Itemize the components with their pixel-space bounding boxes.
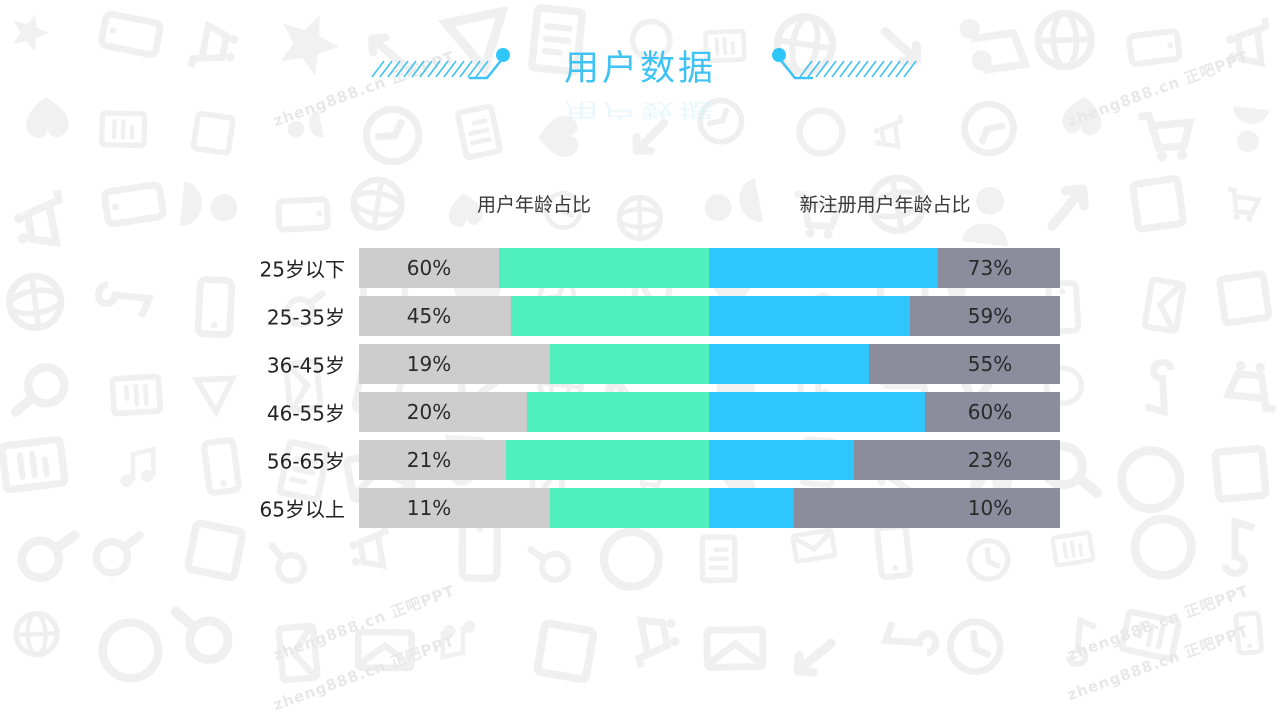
bar-value-left: 45% — [359, 304, 499, 328]
chart-column-headers: 用户年龄占比 新注册用户年龄占比 — [359, 190, 1060, 220]
bar-segment-user-age — [550, 488, 709, 528]
bar-segment-new-user-age — [709, 392, 925, 432]
diverging-bar: 19%55% — [359, 344, 1060, 384]
bar-half-right-track: 23% — [709, 440, 1060, 480]
row-category-label: 65岁以上 — [155, 494, 345, 523]
bar-value-left: 20% — [359, 400, 499, 424]
bar-half-left-track: 19% — [359, 344, 709, 384]
bar-value-right: 60% — [920, 400, 1060, 424]
bar-half-right-track: 59% — [709, 296, 1060, 336]
diverging-bar: 20%60% — [359, 392, 1060, 432]
row-category-label: 25-35岁 — [155, 302, 345, 331]
bar-value-right: 10% — [920, 496, 1060, 520]
row-category-label: 56-65岁 — [155, 446, 345, 475]
chart-row: 25岁以下60%73% — [0, 248, 1280, 288]
bar-value-right: 55% — [920, 352, 1060, 376]
chart-row: 56-65岁21%23% — [0, 440, 1280, 480]
row-category-label: 25岁以下 — [155, 254, 345, 283]
bar-value-left: 19% — [359, 352, 499, 376]
bar-half-right-track: 73% — [709, 248, 1060, 288]
bar-segment-new-user-age — [709, 488, 794, 528]
bar-value-right: 59% — [920, 304, 1060, 328]
column-header-right: 新注册用户年龄占比 — [710, 190, 1060, 217]
row-category-label: 46-55岁 — [155, 398, 345, 427]
user-age-chart: 用户年龄占比 新注册用户年龄占比 25岁以下60%73%25-35岁45%59%… — [0, 0, 1280, 720]
bar-segment-user-age — [527, 392, 709, 432]
diverging-bar: 45%59% — [359, 296, 1060, 336]
bar-half-left-track: 21% — [359, 440, 709, 480]
bar-segment-new-user-age — [709, 296, 910, 336]
diverging-bar: 21%23% — [359, 440, 1060, 480]
diverging-bar: 60%73% — [359, 248, 1060, 288]
bar-half-left-track: 11% — [359, 488, 709, 528]
bar-half-left-track: 45% — [359, 296, 709, 336]
bar-segment-user-age — [506, 440, 709, 480]
bar-segment-new-user-age — [709, 248, 938, 288]
chart-rows: 25岁以下60%73%25-35岁45%59%36-45岁19%55%46-55… — [0, 248, 1280, 536]
bar-value-left: 11% — [359, 496, 499, 520]
bar-half-left-track: 20% — [359, 392, 709, 432]
bar-segment-user-age — [550, 344, 709, 384]
chart-row: 25-35岁45%59% — [0, 296, 1280, 336]
bar-segment-new-user-age — [709, 344, 869, 384]
bar-value-left: 60% — [359, 256, 499, 280]
bar-segment-user-age — [511, 296, 709, 336]
diverging-bar: 11%10% — [359, 488, 1060, 528]
column-header-left: 用户年龄占比 — [359, 190, 709, 217]
bar-value-right: 73% — [920, 256, 1060, 280]
chart-row: 65岁以上11%10% — [0, 488, 1280, 528]
bar-half-right-track: 10% — [709, 488, 1060, 528]
bar-segment-user-age — [499, 248, 709, 288]
bar-segment-new-user-age — [709, 440, 854, 480]
bar-value-right: 23% — [920, 448, 1060, 472]
chart-row: 46-55岁20%60% — [0, 392, 1280, 432]
bar-half-left-track: 60% — [359, 248, 709, 288]
bar-half-right-track: 55% — [709, 344, 1060, 384]
bar-half-right-track: 60% — [709, 392, 1060, 432]
chart-row: 36-45岁19%55% — [0, 344, 1280, 384]
row-category-label: 36-45岁 — [155, 350, 345, 379]
bar-value-left: 21% — [359, 448, 499, 472]
